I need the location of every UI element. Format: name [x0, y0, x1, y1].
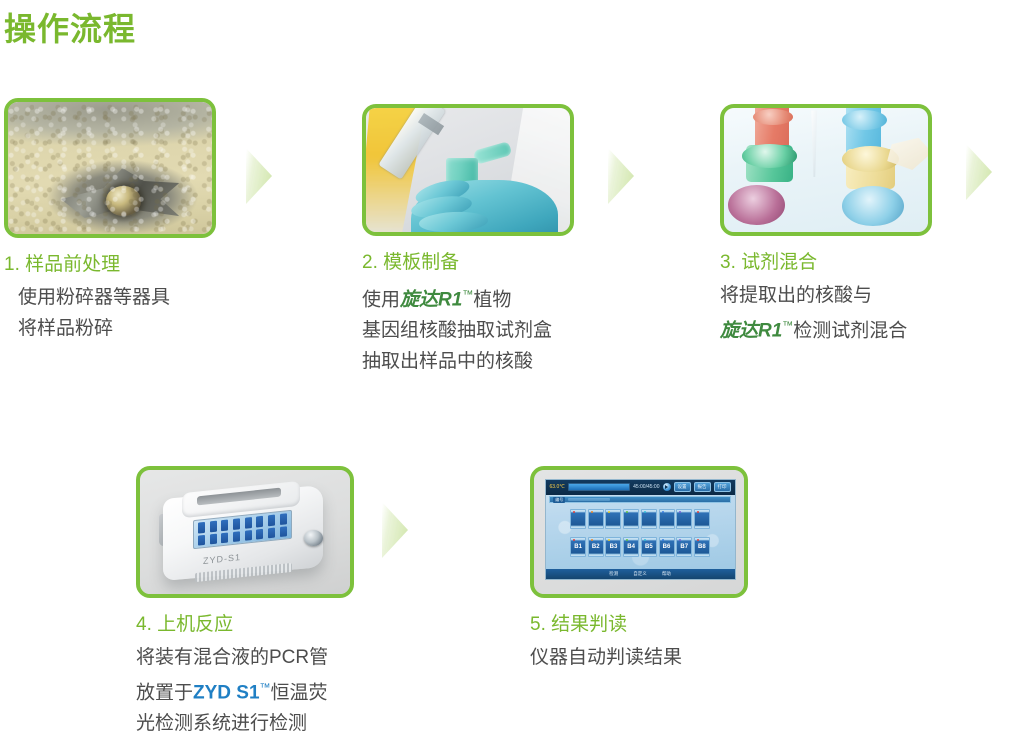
screen-cell [209, 520, 216, 531]
well-cell[interactable] [605, 509, 621, 529]
step-1-line-1: 使用粉碎器等器具 [4, 282, 216, 313]
software-topbar: 63.0℃ 45:00/45:00 设置 报告 打印 [546, 480, 735, 495]
well-cell-b5[interactable]: B5 [641, 537, 657, 557]
status-dot-icon [644, 539, 646, 541]
brand-zyd-s1: ZYD S1 [193, 682, 260, 703]
step-2-caption: 2. 模板制备 使用旋达R1™植物 基因组核酸抽取试剂盒 抽取出样品中的核酸 [362, 250, 574, 377]
step-5-caption: 5. 结果判读 仪器自动判读结果 [530, 612, 748, 673]
trademark-symbol: ™ [782, 320, 793, 332]
well-cell-b6[interactable]: B6 [659, 537, 675, 557]
temperature-readout: 63.0℃ [550, 484, 565, 490]
step-4-body: 将装有混合液的PCR管 放置于ZYD S1™恒温荧 光检测系统进行检测 [136, 642, 354, 739]
well-row-a [570, 509, 710, 529]
step-2-line-1: 使用旋达R1™植物 [362, 280, 574, 315]
well-cell-b7[interactable]: B7 [676, 537, 692, 557]
status-dot-icon [573, 511, 575, 513]
trademark-symbol: ™ [462, 289, 473, 301]
step-3-body: 将提取出的核酸与 旋达R1™检测试剂混合 [720, 280, 932, 346]
step-1-image-card [4, 98, 216, 238]
step-1-heading: 1. 样品前处理 [4, 252, 216, 278]
instrument-photo: ZYD-S1 [140, 470, 350, 594]
step-4-caption: 4. 上机反应 将装有混合液的PCR管 放置于ZYD S1™恒温荧 光检测系统进… [136, 612, 354, 739]
well-label: B7 [680, 544, 688, 550]
well-label: B1 [574, 544, 582, 550]
screen-cell [244, 529, 251, 540]
step-5-body: 仪器自动判读结果 [530, 642, 748, 673]
well-cell-b8[interactable]: B8 [694, 537, 710, 557]
step-5-image-card: 63.0℃ 45:00/45:00 设置 报告 打印 编号 [530, 466, 748, 598]
well-cell[interactable] [641, 509, 657, 529]
status-dot-icon [644, 511, 646, 513]
status-dot-icon [626, 511, 628, 513]
subbar-tag: 编号 [553, 497, 565, 503]
status-dot-icon [591, 539, 593, 541]
subbar-field[interactable] [568, 498, 610, 501]
well-cell-b1[interactable]: B1 [570, 537, 586, 557]
screen-cell [267, 527, 274, 538]
step-4-line-2: 放置于ZYD S1™恒温荧 [136, 673, 354, 708]
step-2-line-2: 基因组核酸抽取试剂盒 [362, 315, 574, 346]
status-dot-icon [662, 511, 664, 513]
step-2: 2. 模板制备 使用旋达R1™植物 基因组核酸抽取试剂盒 抽取出样品中的核酸 [362, 104, 574, 377]
well-cell[interactable] [570, 509, 586, 529]
status-dot-icon [608, 539, 610, 541]
progress-bar [568, 483, 630, 491]
step-4: ZYD-S1 4. 上机反应 将装有混合液的PCR管 放置于ZYD S1™恒温荧… [136, 466, 354, 739]
power-knob-icon [304, 530, 323, 546]
play-icon[interactable] [663, 483, 671, 491]
bottom-button-detect[interactable]: 检测 [609, 571, 618, 577]
step-4-line-1: 将装有混合液的PCR管 [136, 642, 354, 673]
arrow-step1-to-step2 [246, 148, 272, 204]
software-bottombar: 检测 自定义 帮助 [546, 569, 735, 579]
step-1: 1. 样品前处理 使用粉碎器等器具 将样品粉碎 [4, 98, 216, 344]
well-cell[interactable] [623, 509, 639, 529]
tube-lid-shape [473, 142, 512, 165]
screen-cell [197, 534, 204, 545]
grinder-hub-shape [106, 186, 141, 215]
arrow-step4-to-step5 [382, 502, 408, 558]
result-screen-photo: 63.0℃ 45:00/45:00 设置 报告 打印 编号 [534, 470, 744, 594]
grinder-blade-shape [61, 168, 179, 218]
step-3-image-card [720, 104, 932, 236]
step-2-heading: 2. 模板制备 [362, 250, 574, 276]
screen-cell [244, 517, 251, 528]
step-5: 63.0℃ 45:00/45:00 设置 报告 打印 编号 [530, 466, 748, 673]
step-4-seg-2: 恒温荧 [271, 682, 328, 703]
software-monitor: 63.0℃ 45:00/45:00 设置 报告 打印 编号 [545, 479, 736, 580]
step-4-image-card: ZYD-S1 [136, 466, 354, 598]
status-dot-icon [573, 539, 575, 541]
tube-purple-cap-shape [728, 185, 785, 225]
reagent-mixing-photo [724, 108, 928, 232]
step-5-heading: 5. 结果判读 [530, 612, 748, 638]
page-title: 操作流程 [4, 8, 136, 50]
step-5-line-1: 仪器自动判读结果 [530, 642, 748, 673]
arrow-step2-to-step3 [608, 148, 634, 204]
screen-cell [232, 531, 239, 542]
step-3-heading: 3. 试剂混合 [720, 250, 932, 276]
step-2-line-3: 抽取出样品中的核酸 [362, 346, 574, 377]
well-cell-b2[interactable]: B2 [588, 537, 604, 557]
screen-cell [279, 513, 286, 524]
step-1-body: 使用粉碎器等器具 将样品粉碎 [4, 282, 216, 344]
step-3-line-1: 将提取出的核酸与 [720, 280, 932, 311]
topbar-button-settings[interactable]: 设置 [674, 482, 691, 492]
screen-cell [221, 532, 228, 543]
screen-cell [197, 522, 204, 533]
well-cell[interactable] [676, 509, 692, 529]
screen-cell [279, 526, 286, 537]
timer-readout: 45:00/45:00 [633, 484, 659, 490]
brand-xuanda-r1: 旋达R1 [400, 289, 462, 310]
step-4-heading: 4. 上机反应 [136, 612, 354, 638]
well-label: B8 [698, 544, 706, 550]
pipette-tip-shape [810, 110, 819, 177]
operation-flow-page: 操作流程 1. 样品前处理 使用粉碎器等器具 将样品粉碎 [0, 0, 1026, 750]
step-4-line-3: 光检测系统进行检测 [136, 708, 354, 739]
status-dot-icon [591, 511, 593, 513]
template-prep-photo [366, 108, 570, 232]
screen-cell [267, 514, 274, 525]
trademark-symbol: ™ [260, 682, 271, 694]
software-subbar: 编号 [549, 496, 730, 503]
step-2-seg-1: 使用 [362, 289, 400, 310]
screen-cell [209, 533, 216, 544]
well-cell[interactable] [694, 509, 710, 529]
well-label: B3 [610, 544, 618, 550]
bottom-button-help[interactable]: 帮助 [662, 571, 671, 577]
well-cell[interactable] [588, 509, 604, 529]
well-label: B2 [592, 544, 600, 550]
step-3: 3. 试剂混合 将提取出的核酸与 旋达R1™检测试剂混合 [720, 104, 932, 346]
well-row-b: B1 B2 B3 B4 B5 B6 B7 B8 [570, 537, 710, 557]
step-1-line-2: 将样品粉碎 [4, 313, 216, 344]
topbar-button-print[interactable]: 打印 [714, 482, 731, 492]
arrow-step3-to-step4 [966, 144, 992, 200]
screen-cell [256, 528, 263, 539]
screen-cell [221, 519, 228, 530]
status-dot-icon [679, 539, 681, 541]
bottom-button-custom[interactable]: 自定义 [633, 571, 647, 577]
tube-green-cap-shape [742, 144, 797, 168]
screen-cell [256, 516, 263, 527]
step-1-caption: 1. 样品前处理 使用粉碎器等器具 将样品粉碎 [4, 252, 216, 344]
screen-cell [232, 518, 239, 529]
sample-grinder-photo [8, 102, 212, 234]
well-cell[interactable] [659, 509, 675, 529]
step-2-seg-2: 植物 [473, 289, 511, 310]
well-cell-b4[interactable]: B4 [623, 537, 639, 557]
step-3-caption: 3. 试剂混合 将提取出的核酸与 旋达R1™检测试剂混合 [720, 250, 932, 346]
brand-xuanda-r1: 旋达R1 [720, 320, 782, 341]
step-3-seg-1: 检测试剂混合 [793, 320, 907, 341]
step-2-body: 使用旋达R1™植物 基因组核酸抽取试剂盒 抽取出样品中的核酸 [362, 280, 574, 377]
step-2-image-card [362, 104, 574, 236]
topbar-button-report[interactable]: 报告 [694, 482, 711, 492]
status-dot-icon [662, 539, 664, 541]
instrument-screen-rows [197, 513, 286, 545]
step-4-seg-1: 放置于 [136, 682, 193, 703]
well-cell-b3[interactable]: B3 [605, 537, 621, 557]
well-label: B5 [645, 544, 653, 550]
well-label: B6 [663, 544, 671, 550]
status-dot-icon [679, 511, 681, 513]
step-3-line-2: 旋达R1™检测试剂混合 [720, 311, 932, 346]
status-dot-icon [626, 539, 628, 541]
status-dot-icon [608, 511, 610, 513]
progress-bar-fill [569, 484, 629, 490]
well-label: B4 [627, 544, 635, 550]
tube-blue-low-cap-shape [842, 186, 903, 226]
status-dot-icon [697, 539, 699, 541]
status-dot-icon [697, 511, 699, 513]
